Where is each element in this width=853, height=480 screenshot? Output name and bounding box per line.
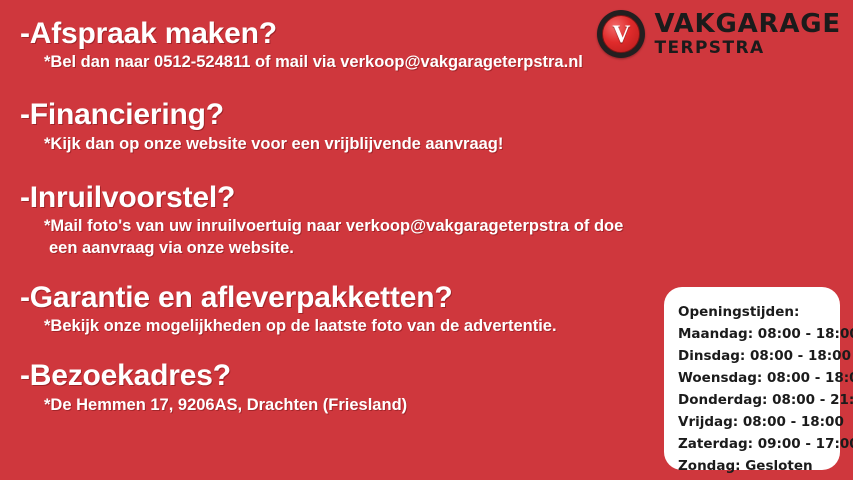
opening-hours-sunday: Zondag: Gesloten: [678, 455, 840, 477]
section-body-line-2: een aanvraag via onze website.: [44, 238, 700, 260]
section-body: *Kijk dan op onze website voor een vrijb…: [20, 134, 700, 156]
section-body: *Bel dan naar 0512-524811 of mail via ve…: [20, 52, 700, 74]
section-financiering: -Financiering? *Kijk dan op onze website…: [20, 99, 700, 155]
section-heading: -Garantie en afleverpakketten?: [20, 282, 700, 314]
section-bezoekadres: -Bezoekadres? *De Hemmen 17, 9206AS, Dra…: [20, 360, 700, 416]
opening-hours-monday: Maandag: 08:00 - 18:00: [678, 323, 840, 345]
opening-hours-title: Openingstijden:: [678, 301, 840, 323]
section-body-line-1: *Mail foto's van uw inruilvoertuig naar …: [44, 217, 623, 235]
section-afspraak: -Afspraak maken? *Bel dan naar 0512-5248…: [20, 18, 700, 74]
section-inruilvoorstel: -Inruilvoorstel? *Mail foto's van uw inr…: [20, 182, 700, 260]
info-sections: -Afspraak maken? *Bel dan naar 0512-5248…: [0, 0, 700, 417]
opening-hours-thursday: Donderdag: 08:00 - 21:00: [678, 389, 840, 411]
section-heading: -Afspraak maken?: [20, 18, 700, 50]
section-heading: -Bezoekadres?: [20, 360, 700, 392]
section-heading: -Financiering?: [20, 99, 700, 131]
section-body: *Mail foto's van uw inruilvoertuig naar …: [20, 216, 700, 260]
opening-hours-wednesday: Woensdag: 08:00 - 18:00: [678, 367, 840, 389]
section-garantie: -Garantie en afleverpakketten? *Bekijk o…: [20, 282, 700, 338]
opening-hours-saturday: Zaterdag: 09:00 - 17:00: [678, 433, 840, 455]
section-heading: -Inruilvoorstel?: [20, 182, 700, 214]
opening-hours-friday: Vrijdag: 08:00 - 18:00: [678, 411, 840, 433]
opening-hours-card: Openingstijden: Maandag: 08:00 - 18:00 D…: [664, 287, 840, 470]
section-body: *Bekijk onze mogelijkheden op de laatste…: [20, 316, 700, 338]
section-body: *De Hemmen 17, 9206AS, Drachten (Friesla…: [20, 395, 700, 417]
opening-hours-tuesday: Dinsdag: 08:00 - 18:00: [678, 345, 840, 367]
